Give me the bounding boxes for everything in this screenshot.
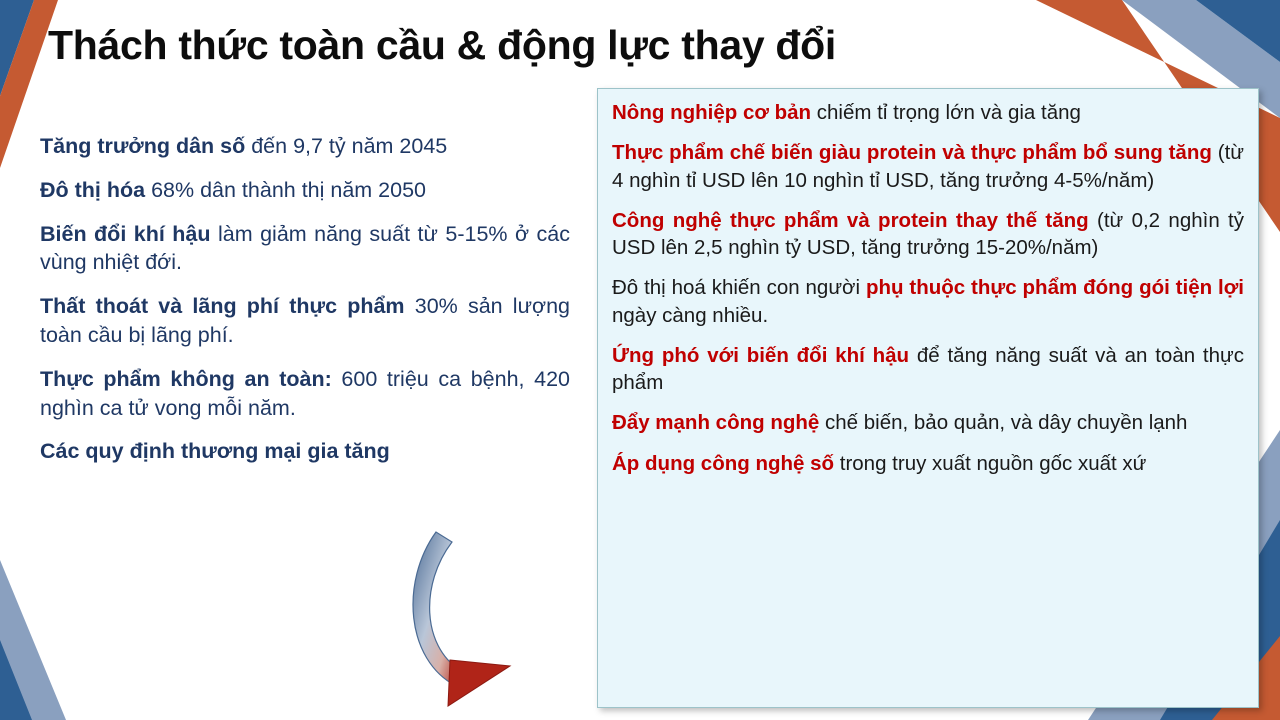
panel-item: Thực phẩm chế biến giàu protein và thực …	[612, 139, 1244, 194]
panel-item-rest: ngày càng nhiều.	[612, 304, 768, 327]
panel-item-lead: Nông nghiệp cơ bản	[612, 101, 811, 124]
panel-item: Công nghệ thực phẩm và protein thay thế …	[612, 207, 1244, 262]
left-bullet-list: Tăng trưởng dân số đến 9,7 tỷ năm 2045 Đ…	[40, 132, 570, 481]
list-item: Tăng trưởng dân số đến 9,7 tỷ năm 2045	[40, 132, 570, 161]
list-item: Đô thị hóa 68% dân thành thị năm 2050	[40, 176, 570, 205]
bullet-strong: Đô thị hóa	[40, 178, 145, 202]
panel-item: Đẩy mạnh công nghệ chế biến, bảo quản, v…	[612, 409, 1244, 436]
panel-item-lead: Áp dụng công nghệ số	[612, 452, 834, 475]
list-item: Các quy định thương mại gia tăng	[40, 437, 570, 466]
right-panel: Nông nghiệp cơ bản chiếm tỉ trọng lớn và…	[597, 88, 1259, 708]
panel-item: Đô thị hoá khiến con người phụ thuộc thự…	[612, 274, 1244, 329]
bullet-strong: Biến đổi khí hậu	[40, 222, 211, 246]
panel-item-lead: Công nghệ thực phẩm và protein thay thế …	[612, 209, 1089, 232]
bullet-strong: Thất thoát và lãng phí thực phẩm	[40, 294, 405, 318]
panel-item-lead: Đẩy mạnh công nghệ	[612, 411, 819, 434]
curved-arrow-icon	[398, 520, 618, 710]
bullet-rest: 68% dân thành thị năm 2050	[145, 178, 426, 202]
panel-item: Nông nghiệp cơ bản chiếm tỉ trọng lớn và…	[612, 99, 1244, 126]
panel-item-lead: Ứng phó với biến đổi khí hậu	[612, 344, 909, 367]
panel-item-rest: trong truy xuất nguồn gốc xuất xứ	[834, 452, 1146, 475]
list-item: Biến đổi khí hậu làm giảm năng suất từ 5…	[40, 220, 570, 278]
panel-item-lead: phụ thuộc thực phẩm đóng gói tiện lợi	[866, 276, 1244, 299]
panel-item-pre: Đô thị hoá khiến con người	[612, 276, 866, 299]
panel-item-rest: chế biến, bảo quản, và dây chuyền lạnh	[819, 411, 1187, 434]
panel-item: Áp dụng công nghệ số trong truy xuất ngu…	[612, 450, 1244, 477]
panel-item: Ứng phó với biến đổi khí hậu để tăng năn…	[612, 342, 1244, 397]
bullet-strong: Tăng trưởng dân số	[40, 134, 245, 158]
list-item: Thực phẩm không an toàn: 600 triệu ca bệ…	[40, 365, 570, 423]
bullet-rest: đến 9,7 tỷ năm 2045	[245, 134, 447, 158]
page-title: Thách thức toàn cầu & động lực thay đổi	[48, 22, 836, 69]
bullet-strong: Thực phẩm không an toàn:	[40, 367, 332, 391]
list-item: Thất thoát và lãng phí thực phẩm 30% sản…	[40, 292, 570, 350]
panel-item-lead: Thực phẩm chế biến giàu protein và thực …	[612, 141, 1212, 164]
bullet-strong: Các quy định thương mại gia tăng	[40, 439, 390, 463]
panel-item-rest: chiếm tỉ trọng lớn và gia tăng	[811, 101, 1081, 124]
